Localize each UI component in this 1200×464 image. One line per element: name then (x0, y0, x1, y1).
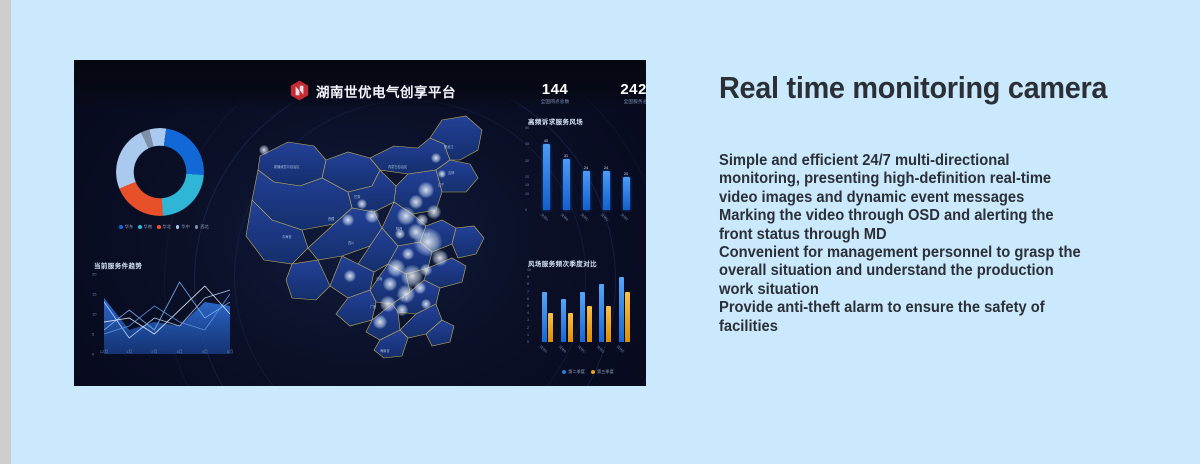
bar2-legend: 第二季度第三季度 (540, 369, 636, 375)
brand-title: 湖南世优电气创享平台 (316, 81, 456, 101)
trend-x-tick: 4月 (202, 349, 208, 355)
trend-area-chart: 12月1月2月3月4月5月 (104, 274, 230, 354)
bar2-category-label: 风场A (538, 344, 548, 354)
bar2-category-label: 风场C (577, 344, 587, 354)
trend-y-tick: 20 (92, 272, 96, 277)
donut-legend-label: 西北 (200, 224, 208, 230)
bar-chart-plot: 4031242420 (536, 128, 636, 210)
bar2-legend-item[interactable]: 第三季度 (591, 369, 614, 375)
bar-y-tick: 0 (525, 208, 527, 212)
bar2-category-label: 风场D (596, 344, 606, 354)
line-chart-title: 当前服务件趋势 (94, 260, 142, 270)
bar (548, 313, 553, 342)
bar-category-label: 风场E (619, 212, 629, 222)
donut-legend-label: 华中 (181, 224, 189, 230)
donut-legend-item[interactable]: 华东 (119, 224, 133, 230)
bar-y-tick: 40 (525, 142, 529, 146)
bar (563, 159, 570, 210)
bar2-y-tick: 1 (527, 333, 529, 337)
kpi-stat: 2424 全国服务总数 (598, 82, 646, 106)
svg-text:四川: 四川 (348, 241, 354, 245)
bar (603, 171, 610, 210)
bar (599, 284, 604, 342)
description-line: overall situation and understand the pro… (719, 262, 1156, 280)
description-line: facilities (719, 318, 1156, 336)
bar-value-label: 24 (584, 166, 588, 170)
bar2-legend-label: 第二季度 (568, 369, 585, 375)
bar2-y-tick: 2 (527, 326, 529, 330)
bar2-y-tick: 7 (527, 290, 529, 294)
bar (583, 171, 590, 210)
bar (561, 299, 566, 342)
trend-chart-svg (104, 274, 230, 354)
bar-category-label: 风场C (579, 212, 589, 222)
svg-text:西藏: 西藏 (328, 216, 335, 221)
svg-text:黑龙江: 黑龙江 (444, 144, 454, 149)
monitoring-dashboard-image: 新疆维吾尔自治区 西藏 青海省 甘肃 内蒙古自治区 黑龙江 吉林 辽宁 四川 陕… (74, 60, 646, 386)
svg-text:内蒙古自治区: 内蒙古自治区 (388, 164, 408, 169)
svg-text:云南: 云南 (376, 276, 382, 281)
bar (619, 277, 624, 342)
legend-swatch-icon (562, 370, 566, 374)
trend-y-tick: 0 (92, 352, 94, 357)
description-line: Simple and efficient 24/7 multi-directio… (719, 152, 1156, 170)
bar (580, 292, 585, 342)
donut-legend-item[interactable]: 华中 (176, 224, 190, 230)
donut-legend-label: 华东 (125, 224, 133, 230)
bar (625, 292, 630, 342)
bar (543, 144, 550, 210)
trend-x-tick: 1月 (126, 349, 132, 355)
bar2-y-tick: 5 (527, 304, 529, 308)
svg-text:广西: 广西 (370, 304, 376, 309)
bar-y-tick: 50 (525, 126, 529, 130)
svg-text:吉林: 吉林 (448, 170, 455, 175)
bar2-y-tick: 6 (527, 297, 529, 301)
bar (542, 292, 547, 342)
legend-swatch-icon (157, 225, 161, 229)
description-line: Provide anti-theft alarm to ensure the s… (719, 299, 1156, 317)
trend-x-tick: 12月 (100, 349, 108, 355)
trend-x-tick: 2月 (151, 349, 157, 355)
kpi-value: 2424 (598, 82, 646, 98)
legend-swatch-icon (119, 225, 123, 229)
svg-text:青海省: 青海省 (282, 234, 292, 239)
bar2-y-tick: 0 (527, 340, 529, 344)
brand-block: 湖南世优电气创享平台 (290, 80, 456, 101)
bar (587, 306, 592, 342)
trend-x-tick: 5月 (227, 349, 233, 355)
description-block: Real time monitoring camera Simple and e… (719, 68, 1179, 336)
bar2-y-tick: 9 (527, 275, 529, 279)
svg-text:辽宁: 辽宁 (438, 182, 444, 187)
region-share-donut-panel: 华东华南华北华中西北 (88, 122, 238, 242)
trend-y-tick: 5 (92, 332, 94, 337)
description-line: Convenient for management personnel to g… (719, 244, 1156, 262)
bar-category-label: 风场D (599, 212, 609, 222)
trend-x-tick: 3月 (176, 349, 182, 355)
donut-legend-label: 华北 (163, 224, 171, 230)
donut-legend: 华东华南华北华中西北 (96, 224, 232, 230)
bar2-y-tick: 4 (527, 311, 529, 315)
quarterly-comparison-panel: 风场服务频次季度对比 012345678910 风场A风场B风场C风场D风场E … (520, 258, 642, 376)
kpi-stat: 144 全国网点总数 (515, 82, 595, 106)
description-line: front status through MD (719, 226, 1156, 244)
high-demand-bar-panel: 高频诉求服务风场 4031242420 0101520304050 风场A风场B… (520, 116, 642, 246)
kpi-label: 全国网点总数 (515, 98, 595, 106)
bar-y-tick: 15 (525, 183, 529, 187)
page-title: Real time monitoring camera (719, 68, 1147, 108)
bar2-y-tick: 10 (527, 268, 531, 272)
left-edge-rail (0, 0, 11, 464)
dashboard-header: 湖南世优电气创享平台 144 全国网点总数 2424 全国服务总数 15753 … (74, 60, 646, 107)
description-line: work situation (719, 281, 1156, 299)
legend-swatch-icon (176, 225, 180, 229)
bar-value-label: 24 (604, 166, 608, 170)
china-map-svg: 新疆维吾尔自治区 西藏 青海省 甘肃 内蒙古自治区 黑龙江 吉林 辽宁 四川 陕… (230, 108, 530, 386)
legend-swatch-icon (195, 225, 199, 229)
bar-value-label: 31 (564, 154, 568, 158)
svg-text:海南省: 海南省 (380, 348, 390, 353)
legend-swatch-icon (138, 225, 142, 229)
description-line: Marking the video through OSD and alerti… (719, 207, 1156, 225)
kpi-value: 144 (515, 82, 595, 98)
bar-y-tick: 30 (525, 159, 529, 163)
bar-value-label: 40 (544, 139, 548, 143)
bar (568, 313, 573, 342)
bar2-y-tick: 8 (527, 282, 529, 286)
china-map-panel: 新疆维吾尔自治区 西藏 青海省 甘肃 内蒙古自治区 黑龙江 吉林 辽宁 四川 陕… (230, 108, 530, 386)
bar-category-label: 风场A (539, 212, 549, 222)
bar2-category-label: 风场B (558, 344, 568, 354)
bar-y-tick: 20 (525, 175, 529, 179)
bar2-y-tick: 3 (527, 318, 529, 322)
bar2-legend-label: 第三季度 (597, 369, 614, 375)
description-line: video images and dynamic event messages (719, 189, 1156, 207)
bar (623, 177, 630, 210)
svg-text:新疆维吾尔自治区: 新疆维吾尔自治区 (274, 164, 300, 169)
description-line: monitoring, presenting high-definition r… (719, 170, 1156, 188)
bar2-chart-title: 风场服务频次季度对比 (528, 258, 597, 268)
donut-legend-item[interactable]: 西北 (195, 224, 209, 230)
bar2-category-label: 风场E (615, 344, 625, 354)
bar-category-label: 风场B (559, 212, 569, 222)
bar2-chart-plot (538, 270, 634, 342)
bar-y-tick: 10 (525, 192, 529, 196)
hexagon-logo-icon (290, 80, 309, 101)
donut-legend-item[interactable]: 华北 (157, 224, 171, 230)
description-text: Simple and efficient 24/7 multi-directio… (719, 152, 1156, 336)
kpi-label: 全国服务总数 (598, 98, 646, 106)
service-trend-panel: 当前服务件趋势 12月1月2月3月4月5月 05101520 (88, 260, 240, 372)
legend-swatch-icon (591, 370, 595, 374)
trend-y-tick: 10 (92, 312, 96, 317)
trend-y-tick: 15 (92, 292, 96, 297)
donut-chart (116, 128, 204, 216)
svg-text:甘肃: 甘肃 (354, 194, 361, 199)
donut-legend-item[interactable]: 华南 (138, 224, 152, 230)
donut-legend-label: 华南 (144, 224, 152, 230)
bar (606, 306, 611, 342)
bar-chart-title: 高频诉求服务风场 (528, 116, 583, 126)
bar2-legend-item[interactable]: 第二季度 (562, 369, 585, 375)
bar-value-label: 20 (624, 172, 628, 176)
